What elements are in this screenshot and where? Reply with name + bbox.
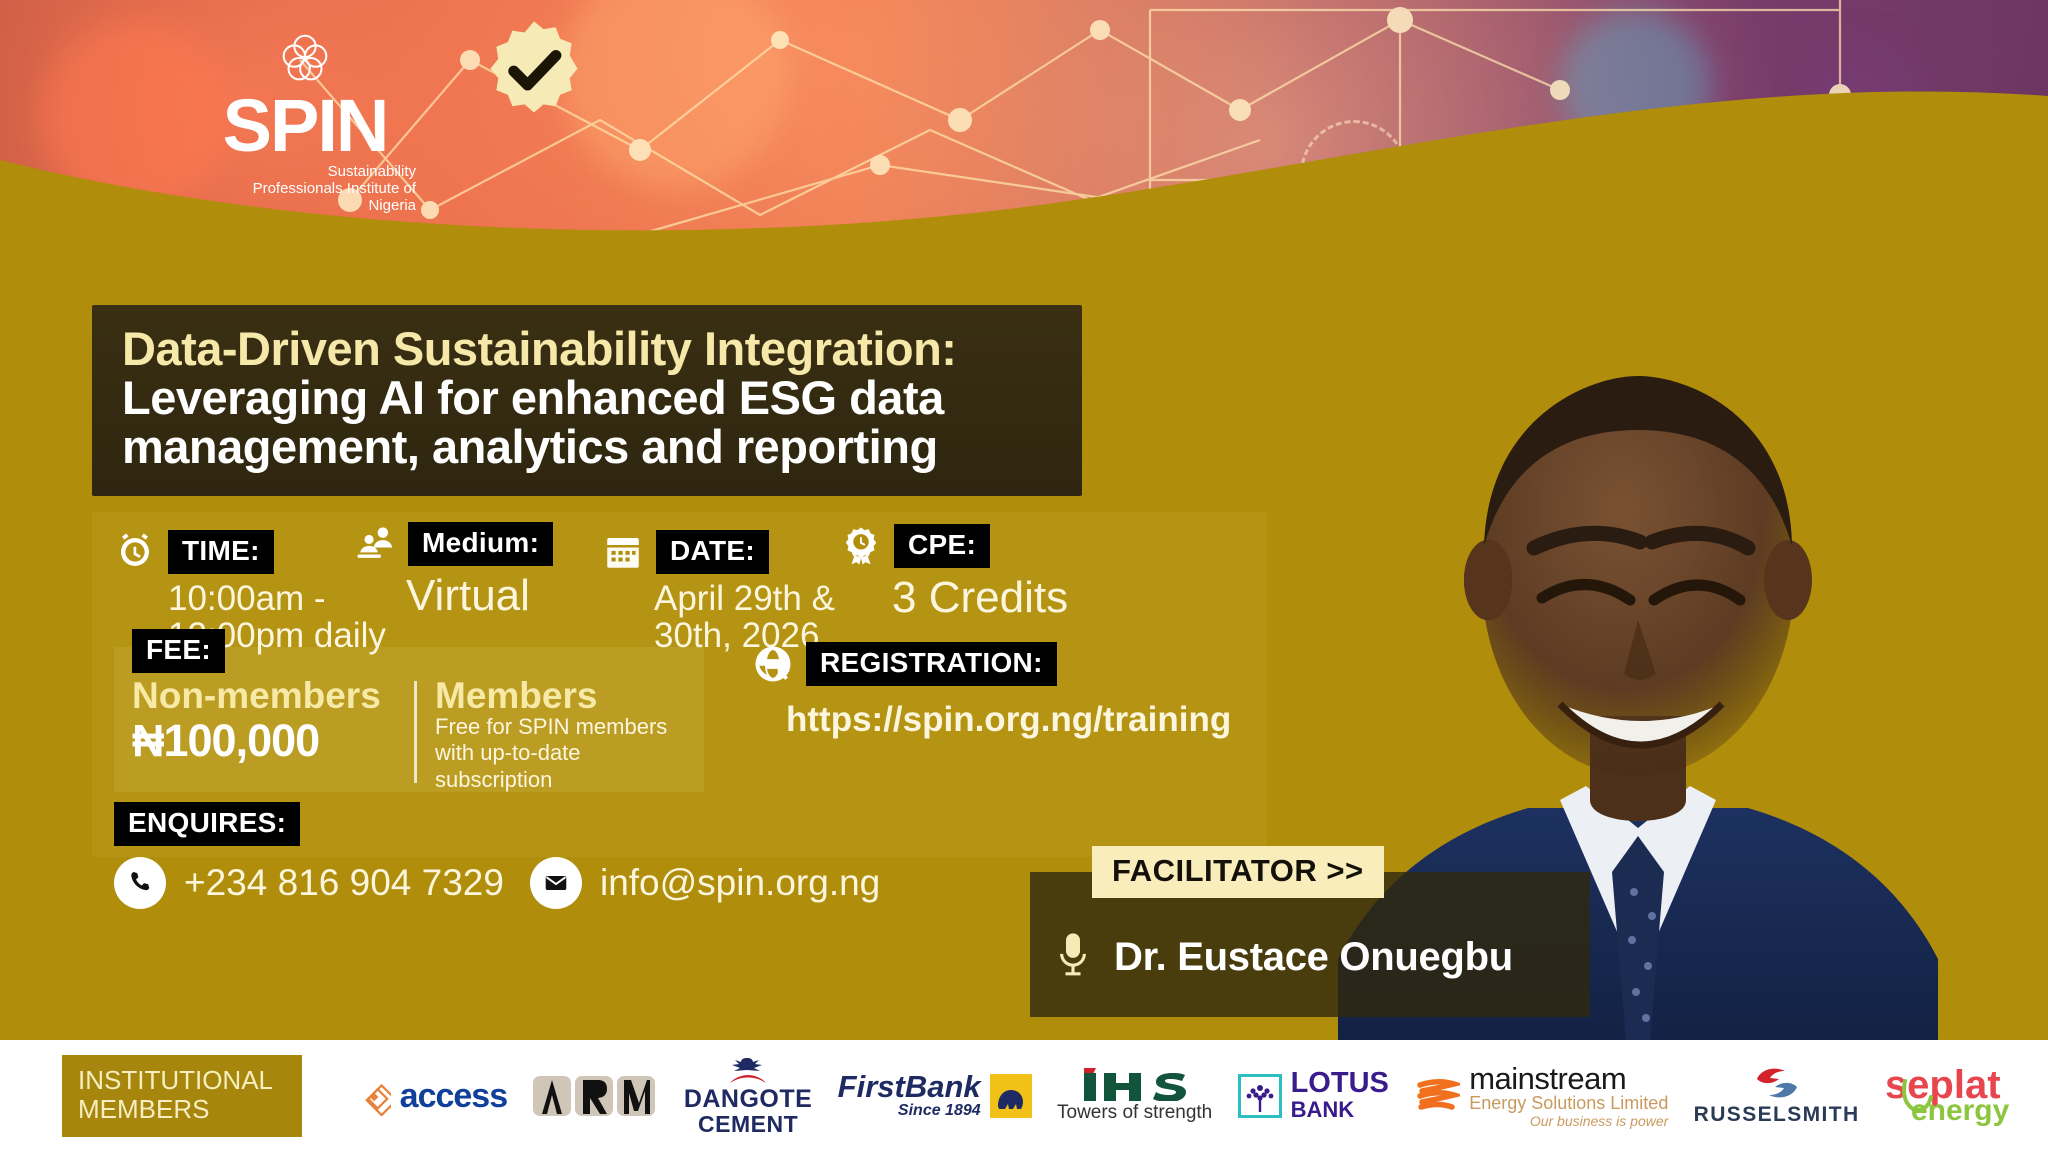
flower-petal-emblem-icon bbox=[274, 28, 336, 90]
spin-logo: SPIN Sustainability Professionals Instit… bbox=[190, 28, 420, 214]
title-line-3: management, analytics and reporting bbox=[122, 423, 1054, 472]
sponsor-sub: Since 1894 bbox=[838, 1102, 981, 1120]
tagline-line-3: Nigeria bbox=[190, 198, 416, 215]
date-value-line-1: April 29th & bbox=[654, 581, 835, 618]
facilitator-tag: FACILITATOR >> bbox=[1092, 846, 1384, 898]
firstbank-elephant-icon bbox=[990, 1074, 1032, 1118]
registration-label: REGISTRATION: bbox=[806, 642, 1057, 686]
sponsor-name: RUSSELSMITH bbox=[1694, 1103, 1860, 1127]
sponsor-name: LOTUS bbox=[1291, 1069, 1389, 1098]
sponsor-sub: Towers of strength bbox=[1057, 1102, 1212, 1124]
detail-date: DATE: April 29th & 30th, 2026 bbox=[602, 530, 835, 655]
spin-tagline: Sustainability Professionals Institute o… bbox=[190, 164, 420, 214]
sponsor-lotus: LOTUS BANK bbox=[1238, 1069, 1389, 1122]
award-ribbon-icon bbox=[840, 525, 882, 567]
time-label: TIME: bbox=[168, 530, 274, 574]
sponsor-dangote: DANGOTE CEMENT bbox=[684, 1056, 813, 1136]
facilitator-block: FACILITATOR >> Dr. Eustace Onuegbu bbox=[1030, 872, 1590, 1017]
phone-number: +234 816 904 7329 bbox=[184, 862, 504, 904]
webinar-people-icon bbox=[354, 523, 396, 565]
date-label: DATE: bbox=[656, 530, 769, 574]
institutional-line-1: INSTITUTIONAL bbox=[78, 1066, 286, 1095]
session-title-block: Data-Driven Sustainability Integration: … bbox=[92, 305, 1082, 496]
sponsor-sub: Energy Solutions Limited bbox=[1469, 1094, 1668, 1114]
enquiries-label: ENQUIRES: bbox=[114, 802, 300, 846]
sponsor-name: DANGOTE bbox=[684, 1086, 813, 1112]
members-heading: Members bbox=[435, 677, 694, 716]
medium-label: Medium: bbox=[408, 522, 553, 566]
contact-email[interactable]: info@spin.org.ng bbox=[530, 857, 880, 909]
registration-url[interactable]: https://spin.org.ng/training bbox=[786, 700, 1231, 740]
email-address: info@spin.org.ng bbox=[600, 862, 880, 904]
envelope-icon bbox=[530, 857, 582, 909]
title-line-2: Leveraging AI for enhanced ESG data bbox=[122, 374, 1054, 423]
institutional-line-2: MEMBERS bbox=[78, 1095, 286, 1124]
medium-value: Virtual bbox=[406, 573, 553, 619]
lotus-tree-icon bbox=[1238, 1074, 1282, 1118]
event-details-panel: TIME: 10:00am - 12:00pm daily Medium: Vi… bbox=[92, 512, 1267, 857]
sponsor-name: access bbox=[400, 1079, 507, 1114]
tagline-line-2: Professionals Institute of bbox=[190, 181, 416, 198]
fee-members: Members Free for SPIN members with up-to… bbox=[435, 677, 694, 793]
spin-wordmark: SPIN bbox=[190, 92, 420, 160]
sponsor-russelsmith: RUSSELSMITH bbox=[1694, 1065, 1860, 1127]
sponsor-access: access bbox=[351, 1076, 507, 1116]
access-diamond-icon bbox=[351, 1076, 391, 1116]
sponsor-seplat: seplat energy bbox=[1885, 1067, 2009, 1124]
fee-divider bbox=[414, 681, 417, 783]
sponsor-sub: CEMENT bbox=[698, 1112, 798, 1136]
facilitator-name: Dr. Eustace Onuegbu bbox=[1114, 935, 1513, 980]
title-line-1: Data-Driven Sustainability Integration: bbox=[122, 325, 1054, 374]
sponsor-name: FirstBank bbox=[838, 1071, 981, 1102]
enquiries-block: ENQUIRES: bbox=[114, 802, 300, 846]
flyer-canvas: COT SPIN Sustainability Professionals In… bbox=[0, 0, 2048, 1152]
members-note: Free for SPIN members with up-to-date su… bbox=[435, 714, 694, 793]
detail-medium: Medium: Virtual bbox=[354, 522, 553, 619]
sponsor-firstbank: FirstBank Since 1894 bbox=[838, 1071, 1032, 1120]
alarm-clock-icon bbox=[114, 531, 156, 573]
institutional-members-badge: INSTITUTIONAL MEMBERS bbox=[62, 1055, 302, 1137]
verified-check-badge-icon bbox=[480, 18, 588, 126]
calendar-icon bbox=[602, 531, 644, 573]
sponsor-arm bbox=[532, 1073, 658, 1119]
cpe-value: 3 Credits bbox=[892, 575, 1068, 621]
sponsor-logos: access DANGOTE CEMENT bbox=[302, 1056, 2048, 1136]
fee-block: FEE: Non-members ₦100,000 Members Free f… bbox=[114, 647, 704, 792]
contact-row: +234 816 904 7329 info@spin.org.ng bbox=[114, 857, 880, 909]
globe-cursor-icon bbox=[752, 643, 794, 685]
sponsor-sub: BANK bbox=[1291, 1098, 1389, 1122]
dangote-eagle-icon bbox=[724, 1056, 772, 1086]
detail-cpe: CPE: 3 Credits bbox=[840, 524, 1068, 621]
russelsmith-icon bbox=[1751, 1065, 1803, 1101]
mainstream-wave-icon bbox=[1414, 1074, 1460, 1118]
fee-non-members: Non-members ₦100,000 bbox=[124, 677, 414, 793]
cpe-label: CPE: bbox=[894, 524, 990, 568]
ihs-icon bbox=[1080, 1067, 1190, 1101]
non-members-amount: ₦100,000 bbox=[132, 716, 414, 766]
footer-sponsors-bar: INSTITUTIONAL MEMBERS access bbox=[0, 1040, 2048, 1152]
non-members-heading: Non-members bbox=[132, 677, 414, 716]
arm-tiles-icon bbox=[532, 1073, 658, 1119]
sponsor-mainstream: mainstream Energy Solutions Limited Our … bbox=[1414, 1063, 1668, 1130]
sponsor-name: mainstream bbox=[1469, 1063, 1668, 1094]
registration-block: REGISTRATION: https://spin.org.ng/traini… bbox=[752, 642, 1231, 740]
fee-label: FEE: bbox=[132, 629, 225, 673]
phone-icon bbox=[114, 857, 166, 909]
seplat-swoosh-icon bbox=[1899, 1075, 1933, 1115]
sponsor-ihs: Towers of strength bbox=[1057, 1067, 1212, 1124]
contact-phone[interactable]: +234 816 904 7329 bbox=[114, 857, 504, 909]
microphone-icon bbox=[1052, 930, 1094, 984]
sponsor-sub2: Our business is power bbox=[1469, 1113, 1668, 1129]
